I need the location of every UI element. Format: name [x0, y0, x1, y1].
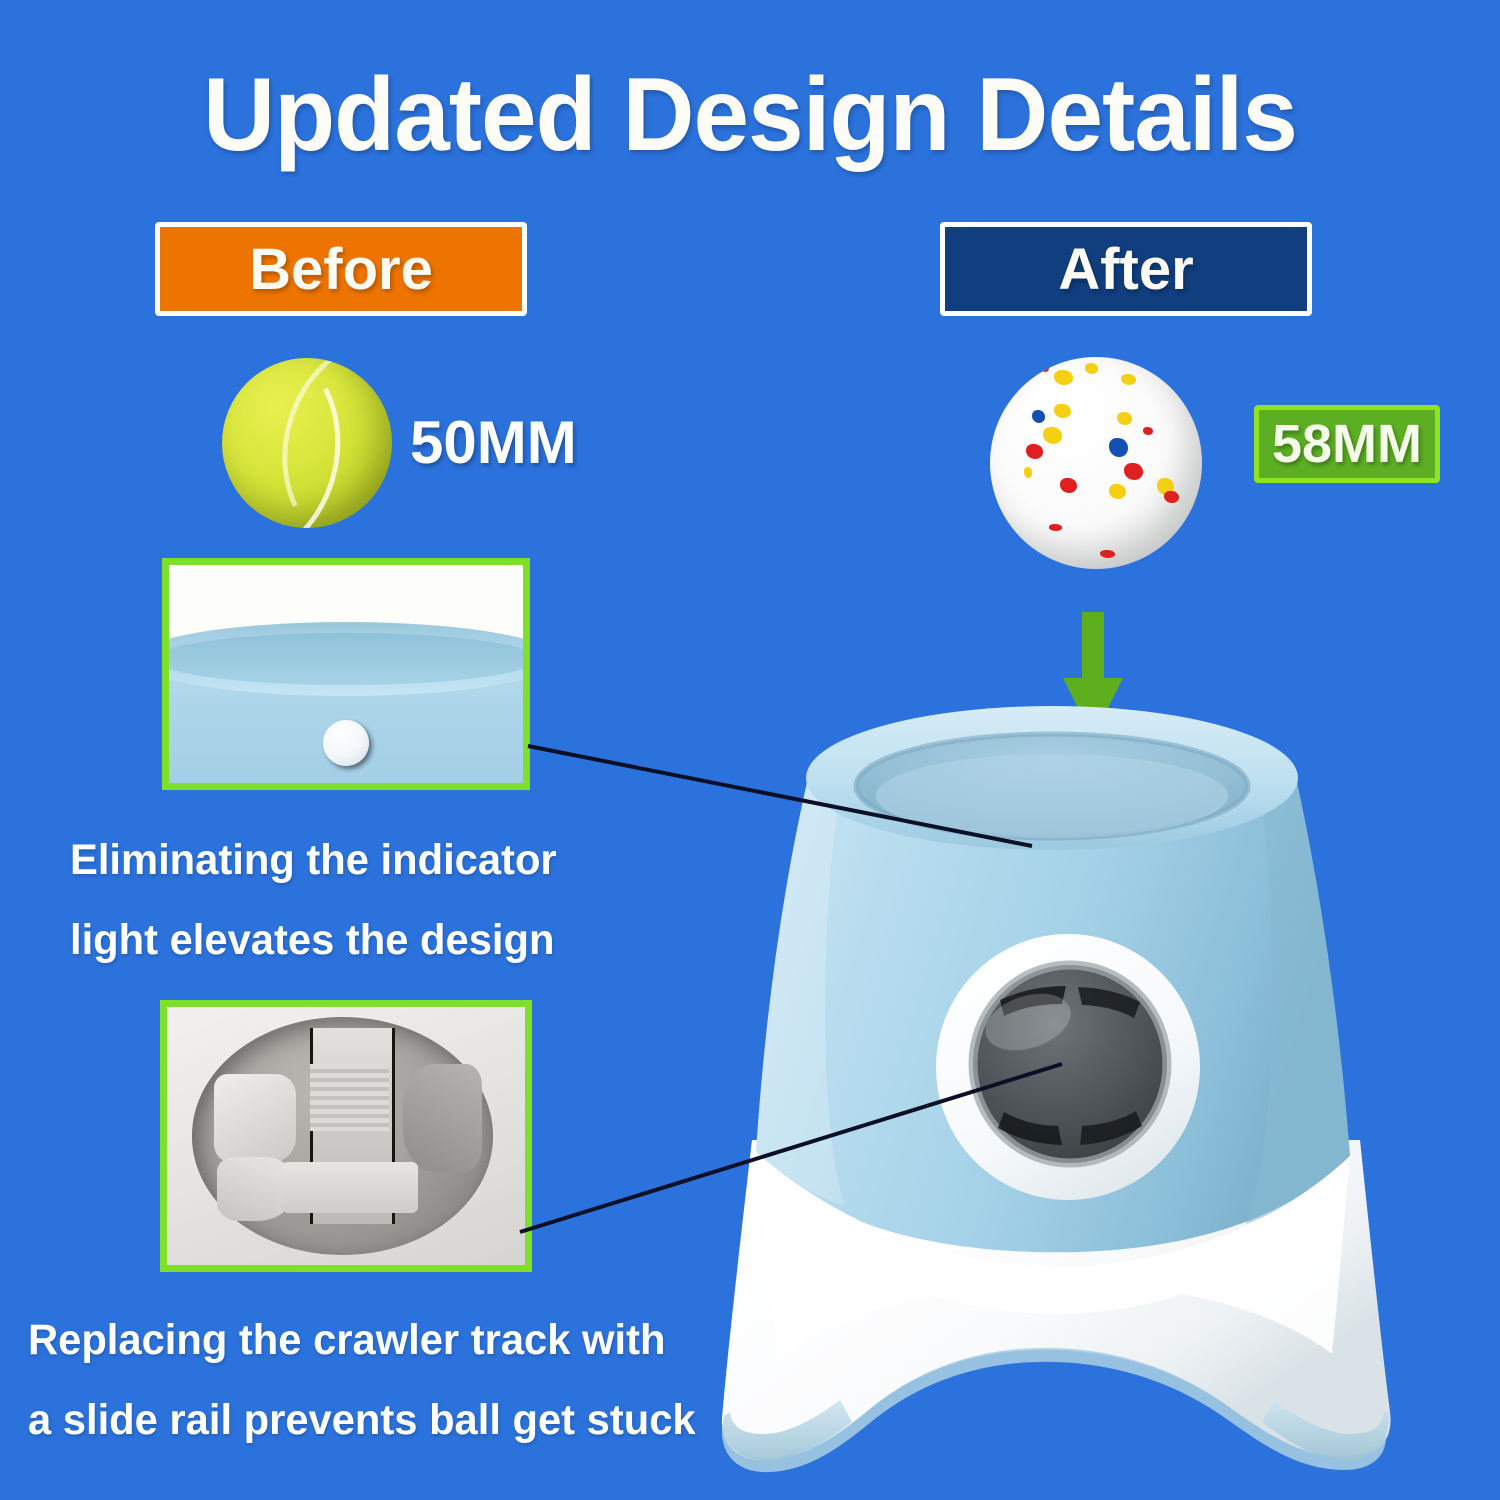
photo-crawler-treads [310, 1064, 389, 1131]
before-ball-size-label: 50MM [410, 408, 577, 477]
caption-crawler-track-line1: Replacing the crawler track with [28, 1300, 696, 1380]
caption-crawler-track: Replacing the crawler track with a slide… [28, 1300, 696, 1460]
photo-track-lobe-left [214, 1074, 296, 1162]
caption-indicator-light: Eliminating the indicator light elevates… [70, 820, 557, 980]
photo-rail-base [282, 1162, 418, 1214]
caption-crawler-track-line2: a slide rail prevents ball get stuck [28, 1380, 696, 1460]
after-badge: After [940, 222, 1312, 316]
before-badge-label: Before [249, 236, 433, 303]
infographic-canvas: Updated Design Details Before After 50MM [0, 0, 1500, 1500]
caption-indicator-light-line2: light elevates the design [70, 900, 557, 980]
after-ball-size-label: 58MM [1272, 413, 1422, 475]
ball-launcher-device [660, 700, 1450, 1490]
after-badge-label: After [1058, 236, 1193, 303]
photo-track-lobe-right [403, 1064, 482, 1172]
crawler-track-photo [160, 1000, 532, 1272]
indicator-light-photo [162, 558, 530, 790]
photo-bowl-inner [162, 633, 530, 685]
before-badge: Before [155, 222, 527, 316]
after-ball-size-badge: 58MM [1254, 405, 1440, 483]
tennis-ball-image [222, 358, 392, 528]
caption-indicator-light-line1: Eliminating the indicator [70, 820, 557, 900]
page-title: Updated Design Details [30, 56, 1470, 175]
indicator-light-icon [323, 720, 369, 766]
speckled-ball-image [990, 357, 1202, 569]
